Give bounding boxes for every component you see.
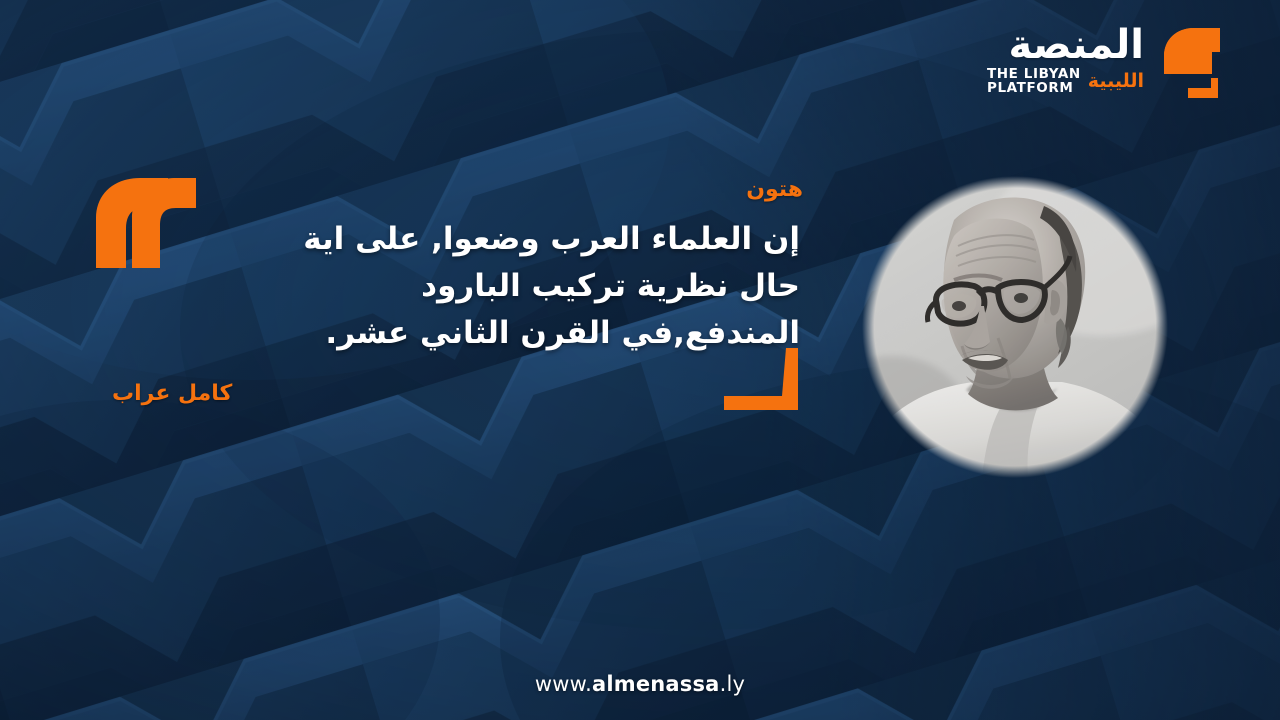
logo-arabic-subtitle: الليبية: [1088, 72, 1144, 91]
author-name: كامل عراب: [112, 381, 232, 406]
logo-subtitle: THE LIBYAN PLATFORM الليبية: [987, 67, 1144, 95]
brand-logo[interactable]: المنصة THE LIBYAN PLATFORM الليبية: [987, 22, 1226, 100]
quote-text: إن العلماء العرب وضعوا, على اية حال نظري…: [235, 216, 800, 357]
footer-url-suffix: .ly: [720, 672, 746, 696]
quote-open-icon: [96, 176, 196, 268]
footer-url-name: almenassa: [592, 672, 720, 696]
logo-en-line2: PLATFORM: [987, 81, 1081, 95]
logo-en-line1: THE LIBYAN: [987, 67, 1081, 81]
logo-english-wordmark: THE LIBYAN PLATFORM: [987, 67, 1081, 95]
footer-url-prefix: www.: [535, 672, 592, 696]
footer-url[interactable]: www.almenassa.ly: [0, 672, 1280, 696]
portrait-photo: [862, 176, 1168, 478]
logo-mark-icon: [1154, 22, 1226, 100]
logo-arabic-wordmark: المنصة: [1008, 26, 1144, 64]
speaker-label: هتون: [746, 177, 803, 202]
quote-card: المنصة THE LIBYAN PLATFORM الليبية: [0, 0, 1280, 720]
logo-text-block: المنصة THE LIBYAN PLATFORM الليبية: [987, 22, 1144, 95]
